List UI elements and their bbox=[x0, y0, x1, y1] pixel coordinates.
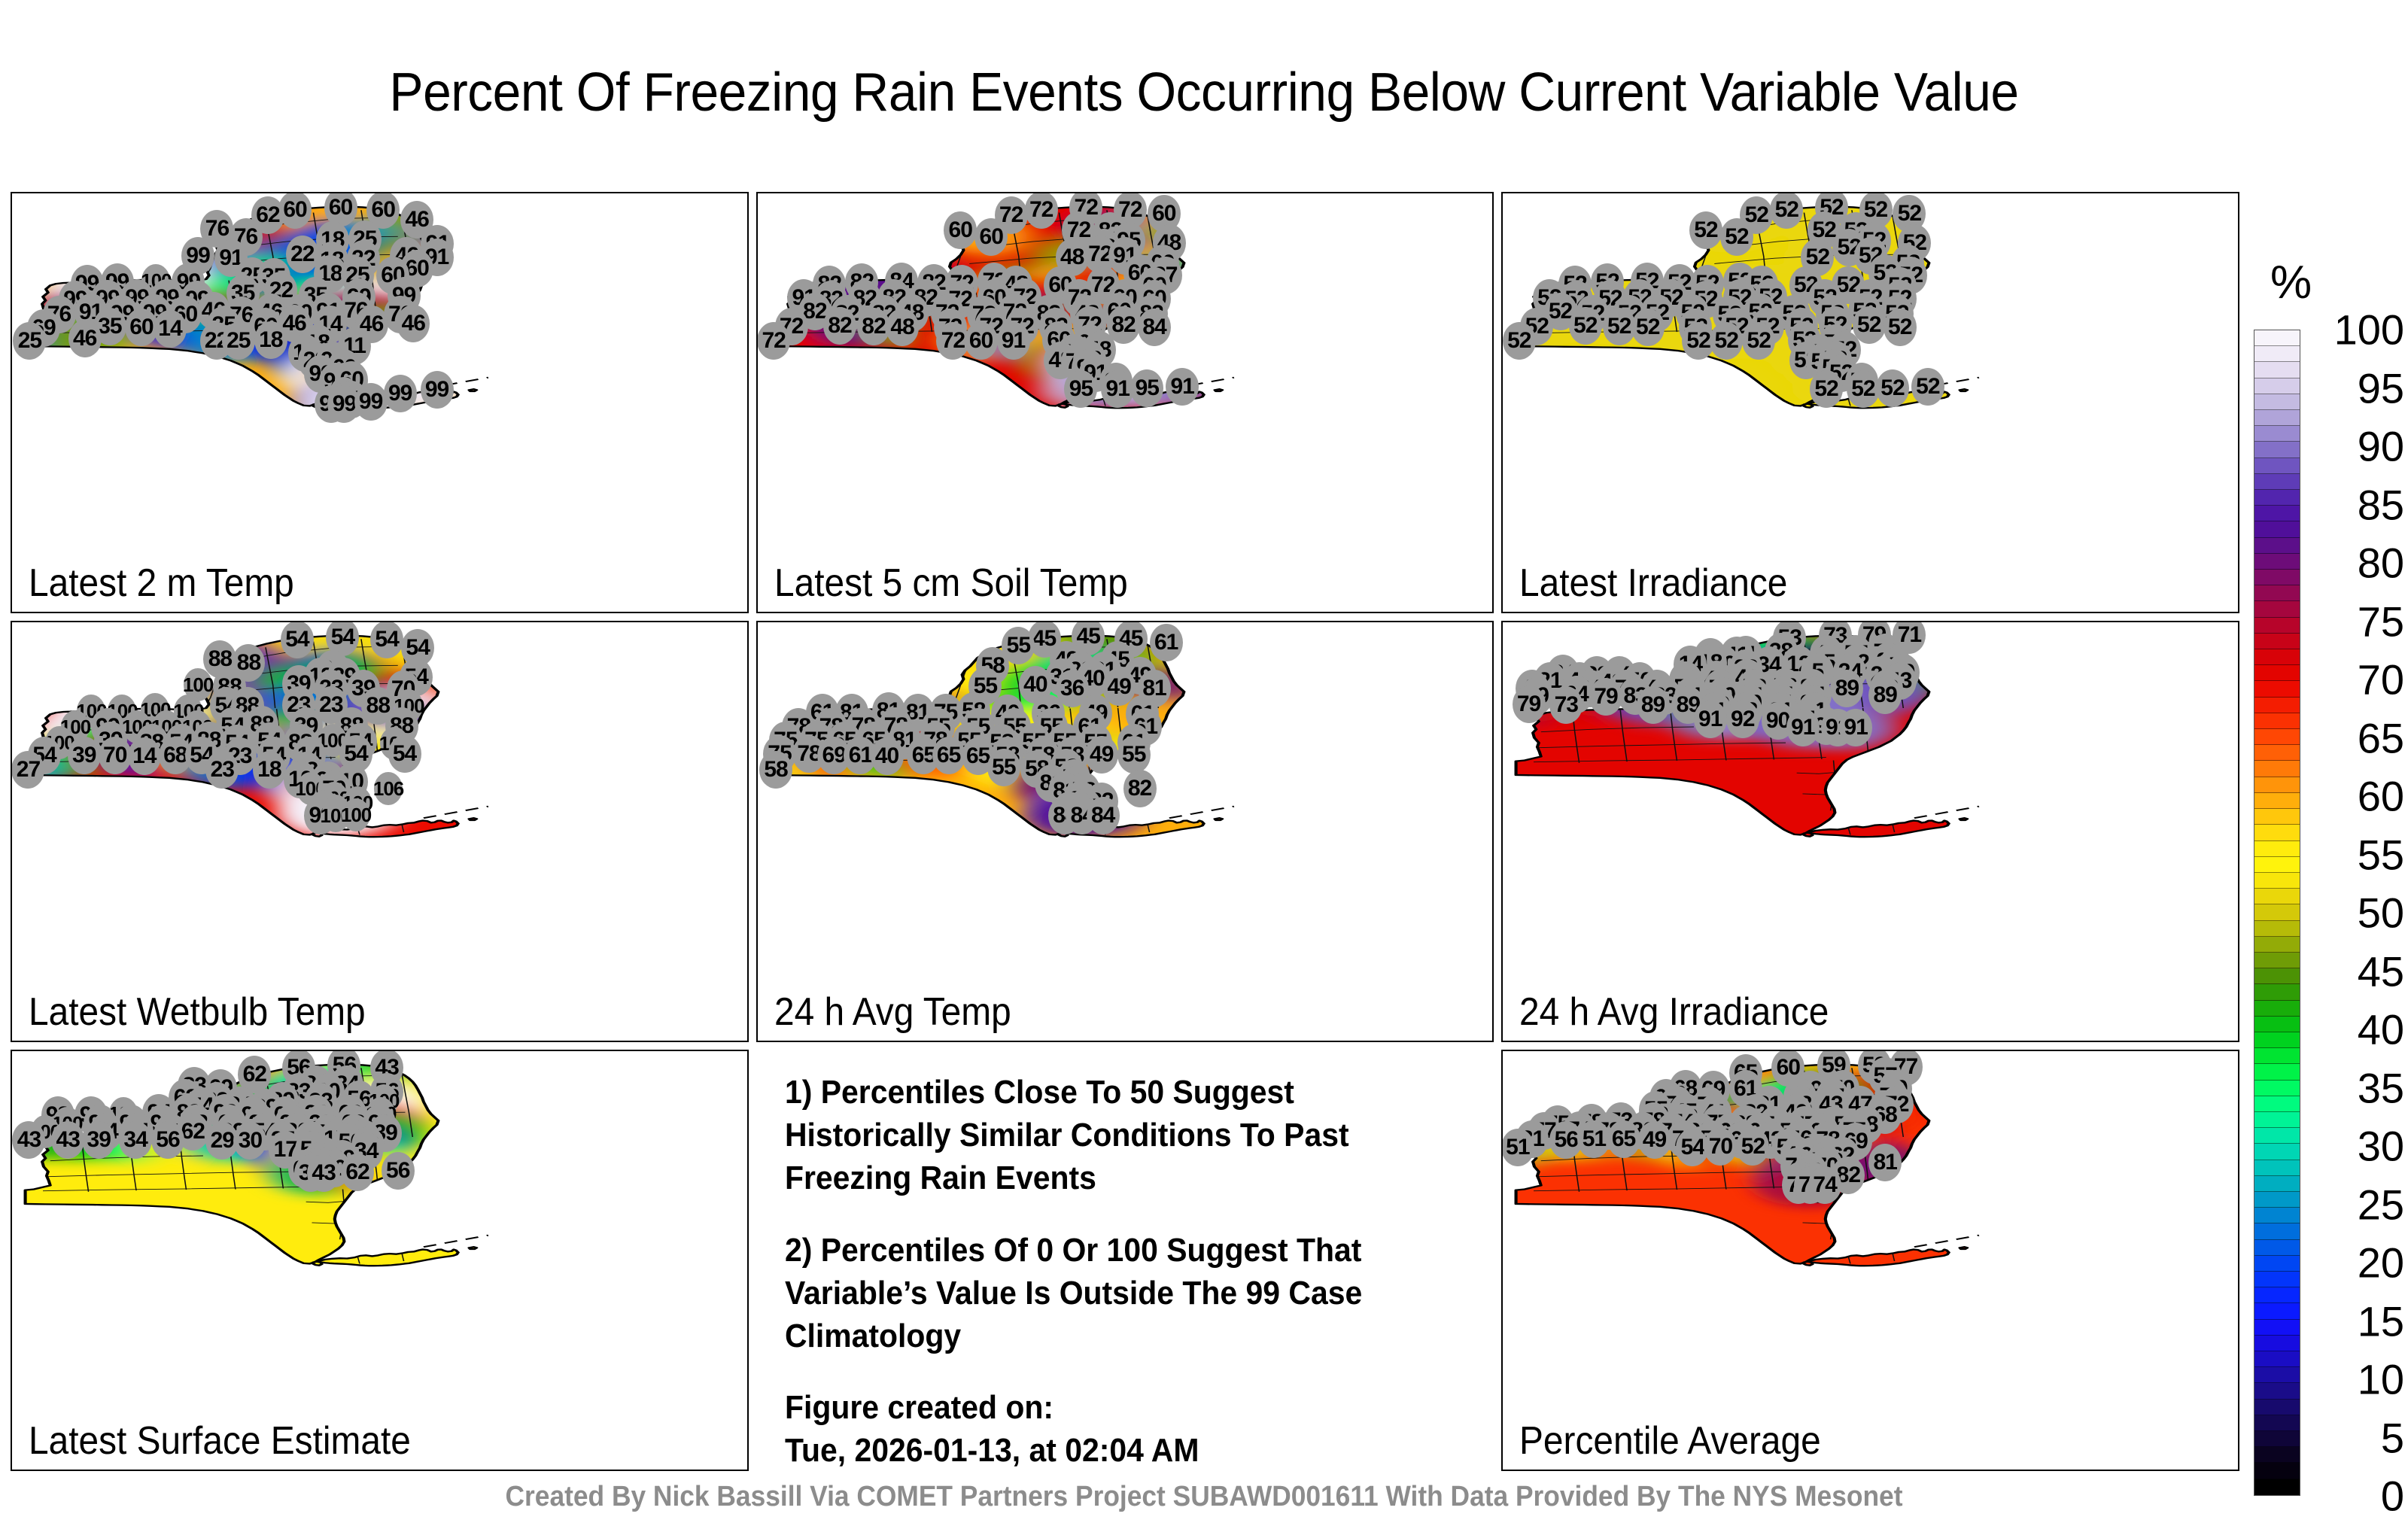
panel-latest-irradiance[interactable]: 5252525252525252525252525252525252525252… bbox=[1501, 192, 2239, 613]
colorbar-tick-labels: 1009590858075706560555045403530252015105… bbox=[2306, 330, 2408, 1496]
colorbar-segment bbox=[2254, 825, 2300, 840]
colorbar-segment bbox=[2254, 426, 2300, 442]
colorbar-tick: 30 bbox=[2306, 1122, 2404, 1171]
colorbar-segment bbox=[2254, 937, 2300, 953]
colorbar-tick: 80 bbox=[2306, 539, 2404, 588]
panel-label: Latest 2 m Temp bbox=[29, 561, 294, 606]
colorbar-segment bbox=[2254, 968, 2300, 984]
map-latest-5cm-soil-temp bbox=[758, 193, 1493, 612]
colorbar-segment bbox=[2254, 1303, 2300, 1319]
colorbar-segment bbox=[2254, 521, 2300, 537]
colorbar-segment bbox=[2254, 889, 2300, 904]
state-map-svg bbox=[1503, 622, 2238, 1041]
map-latest-irradiance bbox=[1503, 193, 2238, 612]
map-latest-2m-temp bbox=[12, 193, 747, 612]
colorbar-segment bbox=[2254, 681, 2300, 697]
colorbar-segment bbox=[2254, 458, 2300, 474]
colorbar-segment bbox=[2254, 698, 2300, 713]
colorbar-tick: 55 bbox=[2306, 830, 2404, 879]
colorbar-segment bbox=[2254, 394, 2300, 410]
colorbar-tick: 20 bbox=[2306, 1239, 2404, 1287]
colorbar-segment bbox=[2254, 729, 2300, 745]
colorbar-tick: 25 bbox=[2306, 1180, 2404, 1229]
created-on-label: Figure created on: bbox=[785, 1389, 1053, 1426]
state-map-svg bbox=[12, 193, 747, 612]
state-map-svg bbox=[12, 1051, 747, 1470]
colorbar-segment bbox=[2254, 1128, 2300, 1144]
colorbar-segment bbox=[2254, 1367, 2300, 1383]
colorbar-segment bbox=[2254, 745, 2300, 761]
colorbar-tick: 5 bbox=[2306, 1413, 2404, 1462]
colorbar-segment bbox=[2254, 1431, 2300, 1447]
panel-label: Latest Irradiance bbox=[1519, 561, 1787, 606]
colorbar-segment bbox=[2254, 1192, 2300, 1208]
map-latest-wetbulb-temp bbox=[12, 622, 747, 1041]
colorbar-segment bbox=[2254, 809, 2300, 825]
colorbar-segment bbox=[2254, 1144, 2300, 1160]
map-24h-avg-temp bbox=[758, 622, 1493, 1041]
colorbar-segment bbox=[2254, 410, 2300, 426]
colorbar-segment bbox=[2254, 793, 2300, 809]
colorbar-segment bbox=[2254, 1320, 2300, 1336]
panel-24h-avg-irradiance[interactable]: 5373797141384057731741101834125122814285… bbox=[1501, 621, 2239, 1042]
colorbar-segment bbox=[2254, 1096, 2300, 1112]
colorbar-segment bbox=[2254, 984, 2300, 1000]
colorbar-segment bbox=[2254, 761, 2300, 777]
colorbar-tick: 100 bbox=[2306, 305, 2404, 354]
footer-credit: Created By Nick Bassill Via COMET Partne… bbox=[84, 1481, 2324, 1513]
colorbar-tick: 70 bbox=[2306, 655, 2404, 704]
created-on-block: Figure created on: Tue, 2026-01-13, at 0… bbox=[785, 1386, 1429, 1471]
colorbar-segment bbox=[2254, 665, 2300, 681]
panel-label: Latest Wetbulb Temp bbox=[29, 989, 366, 1035]
panel-label: 24 h Avg Irradiance bbox=[1519, 989, 1829, 1035]
panel-label: 24 h Avg Temp bbox=[774, 989, 1011, 1035]
panel-label: Latest 5 cm Soil Temp bbox=[774, 561, 1128, 606]
colorbar-segment bbox=[2254, 1017, 2300, 1032]
colorbar-segment bbox=[2254, 857, 2300, 873]
colorbar-segment bbox=[2254, 1463, 2300, 1479]
colorbar-gradient bbox=[2254, 330, 2300, 1496]
colorbar-segment bbox=[2254, 634, 2300, 649]
state-map-svg bbox=[12, 622, 747, 1041]
colorbar-tick: 10 bbox=[2306, 1355, 2404, 1404]
colorbar-segment bbox=[2254, 1351, 2300, 1367]
colorbar-tick: 40 bbox=[2306, 1005, 2404, 1054]
panel-latest-surface-estimate[interactable]: 5656436230346983333056633929335610034395… bbox=[11, 1050, 749, 1471]
panel-latest-2m-temp[interactable]: 6060606246767618259199912218224691609999… bbox=[11, 192, 749, 613]
panel-label: Latest Surface Estimate bbox=[29, 1418, 411, 1464]
page-title: Percent Of Freezing Rain Events Occurrin… bbox=[72, 62, 2336, 123]
colorbar-segment bbox=[2254, 490, 2300, 506]
colorbar-segment bbox=[2254, 713, 2300, 729]
colorbar-segment bbox=[2254, 1001, 2300, 1017]
colorbar-segment bbox=[2254, 649, 2300, 665]
colorbar-segment bbox=[2254, 921, 2300, 937]
notes-block: 1) Percentiles Close To 50 Suggest Histo… bbox=[785, 1071, 1429, 1471]
colorbar-segment bbox=[2254, 1032, 2300, 1048]
colorbar-tick: 35 bbox=[2306, 1063, 2404, 1112]
colorbar-segment bbox=[2254, 904, 2300, 920]
colorbar-segment bbox=[2254, 841, 2300, 857]
state-map-svg bbox=[1503, 1051, 2238, 1470]
colorbar-segment bbox=[2254, 585, 2300, 601]
colorbar-segment bbox=[2254, 538, 2300, 554]
note-item-2: 2) Percentiles Of 0 Or 100 Suggest That … bbox=[785, 1229, 1429, 1358]
colorbar-segment bbox=[2254, 346, 2300, 362]
colorbar-tick: 50 bbox=[2306, 889, 2404, 938]
colorbar-unit-label: % bbox=[2270, 256, 2312, 309]
colorbar-segment bbox=[2254, 506, 2300, 521]
colorbar-segment bbox=[2254, 1208, 2300, 1223]
colorbar-segment bbox=[2254, 777, 2300, 793]
panel-percentile-average[interactable]: 6059597765576869613970696239377272713133… bbox=[1501, 1050, 2239, 1471]
colorbar-segment bbox=[2254, 474, 2300, 490]
colorbar-segment bbox=[2254, 1383, 2300, 1399]
state-map-svg bbox=[758, 622, 1493, 1041]
map-24h-avg-irradiance bbox=[1503, 622, 2238, 1041]
colorbar-tick: 45 bbox=[2306, 947, 2404, 995]
panel-latest-5cm-soil-temp[interactable]: 7272726072728260609548727248916060278282… bbox=[756, 192, 1494, 613]
colorbar-segment bbox=[2254, 1048, 2300, 1064]
colorbar-tick: 65 bbox=[2306, 713, 2404, 762]
colorbar-segment bbox=[2254, 1112, 2300, 1128]
colorbar-tick: 15 bbox=[2306, 1296, 2404, 1345]
map-latest-surface-estimate bbox=[12, 1051, 747, 1470]
colorbar-segment bbox=[2254, 330, 2300, 346]
panel-label: Percentile Average bbox=[1519, 1418, 1821, 1464]
colorbar-segment bbox=[2254, 1400, 2300, 1415]
colorbar-segment bbox=[2254, 1415, 2300, 1431]
state-map-svg bbox=[758, 193, 1493, 612]
colorbar-legend: % 10095908580757065605550454035302520151… bbox=[2254, 226, 2408, 1505]
panel-24h-avg-temp[interactable]: 4545456155494558293131404955403649816181… bbox=[756, 621, 1494, 1042]
map-percentile-average bbox=[1503, 1051, 2238, 1470]
colorbar-segment bbox=[2254, 570, 2300, 585]
created-on-value: Tue, 2026-01-13, at 02:04 AM bbox=[785, 1432, 1199, 1469]
note-item-1: 1) Percentiles Close To 50 Suggest Histo… bbox=[785, 1071, 1429, 1200]
colorbar-segment bbox=[2254, 1447, 2300, 1463]
colorbar-tick: 85 bbox=[2306, 480, 2404, 529]
colorbar-segment bbox=[2254, 601, 2300, 617]
colorbar-tick: 60 bbox=[2306, 772, 2404, 821]
colorbar-segment bbox=[2254, 1287, 2300, 1303]
colorbar-segment bbox=[2254, 1064, 2300, 1080]
state-map-svg bbox=[1503, 193, 2238, 612]
colorbar-segment bbox=[2254, 554, 2300, 570]
panel-grid: 6060606246767618259199912218224691609999… bbox=[11, 192, 2239, 1471]
colorbar-tick: 90 bbox=[2306, 422, 2404, 471]
colorbar-segment bbox=[2254, 1223, 2300, 1239]
colorbar-segment bbox=[2254, 1256, 2300, 1272]
colorbar-segment bbox=[2254, 1160, 2300, 1176]
colorbar-segment bbox=[2254, 873, 2300, 889]
colorbar-segment bbox=[2254, 1240, 2300, 1256]
colorbar-segment bbox=[2254, 1081, 2300, 1096]
colorbar-segment bbox=[2254, 618, 2300, 634]
panel-latest-wetbulb-temp[interactable]: 5454548854882318395410088392339701001001… bbox=[11, 621, 749, 1042]
colorbar-segment bbox=[2254, 1176, 2300, 1192]
colorbar-tick: 75 bbox=[2306, 597, 2404, 646]
colorbar-segment bbox=[2254, 378, 2300, 394]
colorbar-segment bbox=[2254, 442, 2300, 457]
colorbar-segment bbox=[2254, 362, 2300, 378]
colorbar-tick: 95 bbox=[2306, 363, 2404, 412]
colorbar-segment bbox=[2254, 1336, 2300, 1351]
panel-notes: 1) Percentiles Close To 50 Suggest Histo… bbox=[756, 1050, 1494, 1471]
colorbar-segment bbox=[2254, 1272, 2300, 1287]
colorbar-segment bbox=[2254, 953, 2300, 968]
